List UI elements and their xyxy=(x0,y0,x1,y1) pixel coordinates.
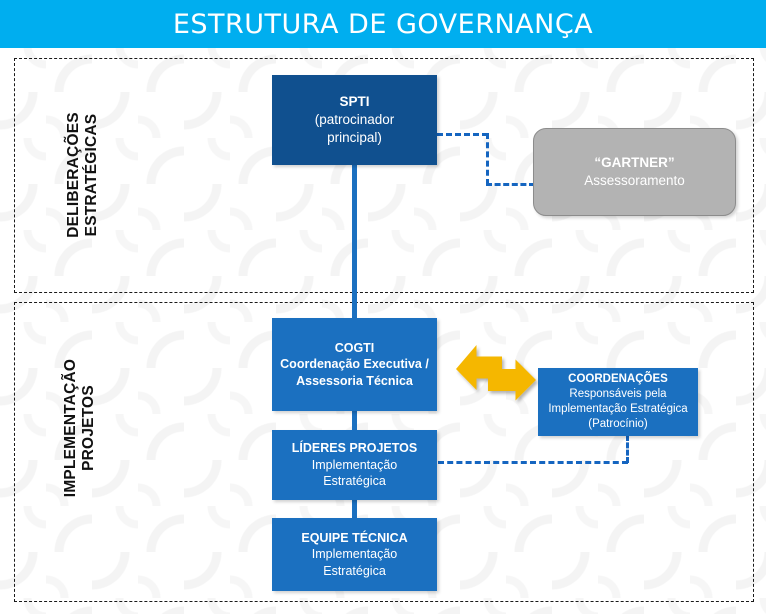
node-cogti[interactable]: COGTI Coordenação Executiva / Assessoria… xyxy=(272,318,437,411)
node-equipe-line2: Implementação xyxy=(312,546,397,563)
node-cogti-line2: Coordenação Executiva / xyxy=(280,356,429,373)
node-cogti-title: COGTI xyxy=(335,340,375,357)
node-spti-title: SPTI xyxy=(339,93,369,111)
connector-spti-to-gartner-horizontal xyxy=(437,133,488,136)
node-coordenacoes-line4: (Patrocínio) xyxy=(588,417,647,432)
node-coordenacoes-line3: Implementação Estratégica xyxy=(548,402,687,417)
connector-gartner-inlet xyxy=(486,183,535,186)
node-cogti-line3: Assessoria Técnica xyxy=(296,373,413,390)
section-label-deliberacoes-estrategicas: DELIBERAÇÕES ESTRATÉGICAS xyxy=(65,75,111,275)
header-banner: ESTRUTURA DE GOVERNANÇA xyxy=(0,0,766,48)
connector-coordenacoes-to-lideres xyxy=(438,461,628,464)
node-spti[interactable]: SPTI (patrocinador principal) xyxy=(272,75,437,165)
node-equipe-tecnica[interactable]: EQUIPE TÉCNICA Implementação Estratégica xyxy=(272,518,437,591)
connector-spti-to-cogti xyxy=(352,165,357,319)
node-coordenacoes-line2: Responsáveis pela xyxy=(569,387,666,402)
connector-cogti-to-lideres xyxy=(352,410,357,431)
node-spti-line2: (patrocinador xyxy=(315,111,395,129)
section-label-implementacao-projetos: IMPLEMENTAÇÃO PROJETOS xyxy=(62,313,108,543)
node-lideres-line2: Implementação xyxy=(312,457,397,474)
governance-structure-diagram: ESTRUTURA DE GOVERNANÇA DELIBERAÇÕES EST… xyxy=(0,0,766,614)
node-lideres-title: LÍDERES PROJETOS xyxy=(292,440,418,457)
page-title: ESTRUTURA DE GOVERNANÇA xyxy=(173,9,593,40)
node-coordenacoes[interactable]: COORDENAÇÕES Responsáveis pela Implement… xyxy=(538,368,698,436)
connector-spti-to-gartner-vertical xyxy=(486,133,489,185)
node-gartner-title: “GARTNER” xyxy=(594,154,674,172)
connector-lideres-to-equipe xyxy=(352,499,357,519)
node-spti-line3: principal) xyxy=(327,129,382,147)
node-gartner-line2: Assessoramento xyxy=(584,172,685,190)
node-lideres-line3: Estratégica xyxy=(323,473,386,490)
bidirectional-arrow-icon xyxy=(455,342,539,410)
node-equipe-title: EQUIPE TÉCNICA xyxy=(301,530,407,547)
node-lideres-projetos[interactable]: LÍDERES PROJETOS Implementação Estratégi… xyxy=(272,430,437,500)
node-gartner[interactable]: “GARTNER” Assessoramento xyxy=(533,128,736,216)
connector-coordenacoes-vertical xyxy=(626,435,629,463)
node-equipe-line3: Estratégica xyxy=(323,563,386,580)
node-coordenacoes-title: COORDENAÇÕES xyxy=(568,372,668,387)
